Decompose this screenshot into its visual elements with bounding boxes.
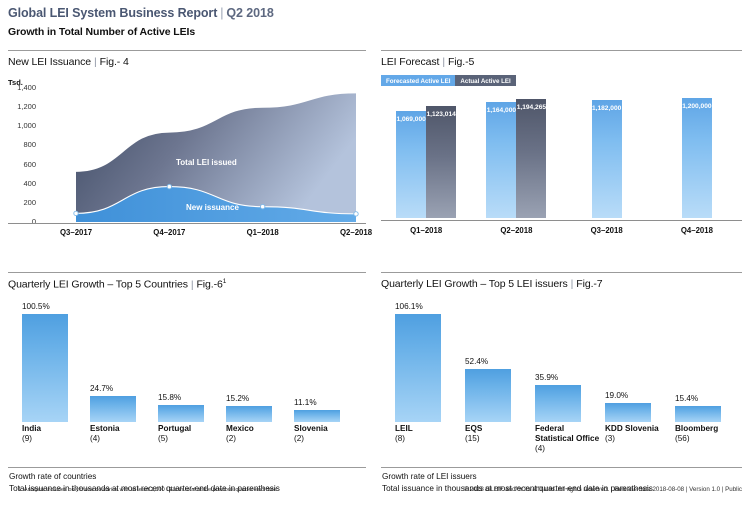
category-name: LEIL (395, 424, 413, 433)
fig5-x-axis-line (381, 220, 742, 221)
fig5-bar-group: 1,200,000 (682, 98, 712, 218)
bar-column: 15.2% (226, 406, 272, 422)
footer-copyright: © 2018 GLEIF and/or its affiliates. All … (464, 486, 742, 493)
growth-bar[interactable] (395, 314, 441, 422)
page-title: Global LEI System Business Report|Q2 201… (8, 6, 742, 20)
category-count: (15) (465, 434, 532, 444)
growth-bar[interactable] (605, 403, 651, 422)
category-label: Estonia(4) (90, 424, 155, 444)
fig4-title-text: New LEI Issuance (8, 56, 91, 68)
category-name: Slovenia (294, 424, 328, 433)
fig7-figure-number: Fig.-7 (576, 278, 602, 290)
category-count: (4) (90, 434, 155, 444)
category-name: Federal Statistical Office (535, 424, 599, 443)
fig7-caption-line1: Growth rate of LEI issuers (382, 471, 653, 483)
category-label: LEIL(8) (395, 424, 462, 444)
bar-column: 15.4% (675, 406, 721, 422)
fig7-caption-divider (381, 467, 742, 468)
fig4-plot-area: Total LEI issued New issuance (38, 88, 366, 222)
growth-bar[interactable] (90, 396, 136, 422)
fig4-y-tick: 600 (23, 161, 36, 169)
fig5-x-tick: Q2–2018 (500, 226, 532, 235)
bar-value-label: 15.2% (226, 394, 249, 403)
fig5-forecast-value: 1,200,000 (682, 103, 712, 110)
category-name: Estonia (90, 424, 120, 433)
growth-bar[interactable] (294, 410, 340, 422)
category-count: (5) (158, 434, 223, 444)
fig5-actual-value: 1,123,014 (426, 111, 456, 118)
business-report-page: Global LEI System Business Report|Q2 201… (0, 0, 750, 505)
category-label: KDD Slovenia(3) (605, 424, 672, 444)
fig4-y-tick: 800 (23, 141, 36, 149)
fig5-forecast-bar[interactable]: 1,164,000 (486, 102, 516, 218)
fig4-y-tick: 1,200 (17, 103, 36, 111)
fig4-x-tick: Q2–2018 (340, 228, 372, 237)
growth-bar[interactable] (226, 406, 272, 422)
fig4-new-series-label: New issuance (186, 203, 239, 212)
bar-column: 100.5% (22, 314, 68, 422)
fig4-y-tick: 1,400 (17, 84, 36, 92)
legend-item-forecasted: Forecasted Active LEI (381, 75, 455, 86)
fig7-title-text: Quarterly LEI Growth – Top 5 LEI issuers (381, 278, 568, 290)
fig5-actual-bar[interactable]: 1,194,265 (516, 99, 546, 218)
fig4-y-tick: 1,000 (17, 122, 36, 130)
fig5-plot-area: 1,069,0001,123,0141,164,0001,194,2651,18… (381, 92, 742, 218)
category-count: (9) (22, 434, 87, 444)
bar-column: 52.4% (465, 369, 511, 422)
fig4-x-tick: Q1–2018 (247, 228, 279, 237)
bar-value-label: 52.4% (465, 357, 488, 366)
category-name: India (22, 424, 41, 433)
category-name: EQS (465, 424, 482, 433)
panel-top5-issuers: Quarterly LEI Growth – Top 5 LEI issuers… (381, 272, 742, 500)
fig5-forecast-value: 1,164,000 (486, 107, 516, 114)
fig4-total-series-label: Total LEI issued (176, 158, 237, 167)
bar-column: 19.0% (605, 403, 651, 422)
fig5-actual-bar[interactable]: 1,123,014 (426, 106, 456, 218)
fig7-title: Quarterly LEI Growth – Top 5 LEI issuers… (381, 278, 742, 290)
panel-divider (381, 50, 742, 51)
panel-divider (8, 50, 366, 51)
fig4-data-point (260, 204, 264, 208)
fig5-x-axis-labels: Q1–2018Q2–2018Q3–2018Q4–2018 (381, 226, 742, 240)
category-count: (2) (226, 434, 291, 444)
category-name: KDD Slovenia (605, 424, 659, 433)
fig4-x-tick: Q4–2017 (153, 228, 185, 237)
fig5-legend: Forecasted Active LEI Actual Active LEI (381, 75, 516, 86)
category-count: (56) (675, 434, 742, 444)
fig5-forecast-bar[interactable]: 1,200,000 (682, 98, 712, 218)
fig5-forecast-value: 1,182,000 (592, 105, 622, 112)
bar-value-label: 100.5% (22, 302, 50, 311)
fig5-x-tick: Q1–2018 (410, 226, 442, 235)
fig4-x-tick: Q3–2017 (60, 228, 92, 237)
panel-divider (381, 272, 742, 273)
category-count: (8) (395, 434, 462, 444)
bar-value-label: 24.7% (90, 384, 113, 393)
fig4-separator: | (91, 56, 100, 68)
category-label: Portugal(5) (158, 424, 223, 444)
fig4-figure-number: Fig.- 4 (100, 56, 129, 68)
fig4-data-point (354, 212, 358, 216)
category-name: Bloomberg (675, 424, 718, 433)
page-footnote: 1. Analysis includes only those countrie… (18, 487, 277, 493)
fig6-title: Quarterly LEI Growth – Top 5 Countries|F… (8, 278, 366, 291)
fig6-category-labels: India(9)Estonia(4)Portugal(5)Mexico(2)Sl… (22, 424, 362, 466)
growth-bar[interactable] (675, 406, 721, 422)
panel-top5-countries: Quarterly LEI Growth – Top 5 Countries|F… (8, 272, 366, 500)
category-label: Federal Statistical Office(4) (535, 424, 602, 454)
bar-column: 24.7% (90, 396, 136, 422)
bar-value-label: 11.1% (294, 398, 317, 407)
fig4-y-tick: 0 (32, 218, 36, 226)
growth-bar[interactable] (535, 385, 581, 422)
fig7-category-labels: LEIL(8)EQS(15)Federal Statistical Office… (395, 424, 735, 466)
fig5-forecast-bar[interactable]: 1,182,000 (592, 100, 622, 218)
fig6-caption-line1: Growth rate of countries (9, 471, 280, 483)
bar-value-label: 35.9% (535, 373, 558, 382)
fig5-figure-number: Fig.-5 (448, 56, 474, 68)
category-count: (4) (535, 444, 602, 454)
category-count: (3) (605, 434, 672, 444)
panel-lei-forecast: LEI Forecast|Fig.-5 Forecasted Active LE… (381, 50, 742, 235)
panel-new-lei-issuance: New LEI Issuance|Fig.- 4 Tsd. 1,4001,200… (8, 50, 366, 235)
fig5-separator: | (439, 56, 448, 68)
bar-column: 15.8% (158, 405, 204, 422)
fig4-x-axis-labels: Q3–2017Q4–2017Q1–2018Q2–2018 (38, 228, 366, 242)
category-name: Portugal (158, 424, 191, 433)
category-label: EQS(15) (465, 424, 532, 444)
legend-item-actual: Actual Active LEI (455, 75, 515, 86)
category-label: Mexico(2) (226, 424, 291, 444)
category-label: Slovenia(2) (294, 424, 359, 444)
fig6-title-text: Quarterly LEI Growth – Top 5 Countries (8, 279, 188, 291)
fig4-y-tick: 400 (23, 180, 36, 188)
fig6-plot-area: 100.5%24.7%15.8%15.2%11.1% (22, 302, 352, 422)
category-label: India(9) (22, 424, 87, 444)
fig7-plot-area: 106.1%52.4%35.9%19.0%15.4% (395, 302, 725, 422)
fig5-actual-value: 1,194,265 (516, 104, 546, 111)
fig6-figure-number: Fig.-6 (196, 279, 222, 291)
fig4-data-point (167, 184, 171, 188)
bar-column: 11.1% (294, 410, 340, 422)
growth-bar[interactable] (465, 369, 511, 422)
fig5-x-tick: Q4–2018 (681, 226, 713, 235)
fig5-bar-group: 1,182,000 (592, 100, 622, 218)
report-header: Global LEI System Business Report|Q2 201… (8, 6, 742, 38)
growth-bar[interactable] (22, 314, 68, 422)
fig4-title: New LEI Issuance|Fig.- 4 (8, 56, 366, 68)
category-count: (2) (294, 434, 359, 444)
bar-value-label: 106.1% (395, 302, 423, 311)
growth-bar[interactable] (158, 405, 204, 422)
fig5-title: LEI Forecast|Fig.-5 (381, 56, 742, 68)
fig5-forecast-value: 1,069,000 (396, 116, 426, 123)
category-label: Bloomberg(56) (675, 424, 742, 444)
category-name: Mexico (226, 424, 254, 433)
bar-column: 106.1% (395, 314, 441, 422)
bar-value-label: 15.8% (158, 393, 181, 402)
report-quarter: Q2 2018 (226, 6, 273, 20)
fig6-caption-divider (8, 467, 366, 468)
bar-column: 35.9% (535, 385, 581, 422)
report-subtitle: Growth in Total Number of Active LEIs (8, 26, 742, 38)
fig5-bar-group: 1,069,0001,123,014 (396, 106, 456, 218)
fig4-y-tick: 200 (23, 199, 36, 207)
fig5-forecast-bar[interactable]: 1,069,000 (396, 111, 426, 218)
fig5-bar-group: 1,164,0001,194,265 (486, 99, 546, 218)
fig4-y-axis-labels: 1,4001,2001,0008006004002000 (8, 88, 38, 222)
panel-divider (8, 272, 366, 273)
fig4-x-axis-line (8, 223, 366, 224)
fig4-data-point (74, 211, 78, 215)
fig6-footnote-marker: 1 (223, 278, 227, 285)
fig7-separator: | (568, 278, 577, 290)
bar-value-label: 19.0% (605, 391, 628, 400)
bar-value-label: 15.4% (675, 394, 698, 403)
fig5-x-tick: Q3–2018 (591, 226, 623, 235)
fig5-title-text: LEI Forecast (381, 56, 439, 68)
report-title-text: Global LEI System Business Report (8, 6, 217, 20)
